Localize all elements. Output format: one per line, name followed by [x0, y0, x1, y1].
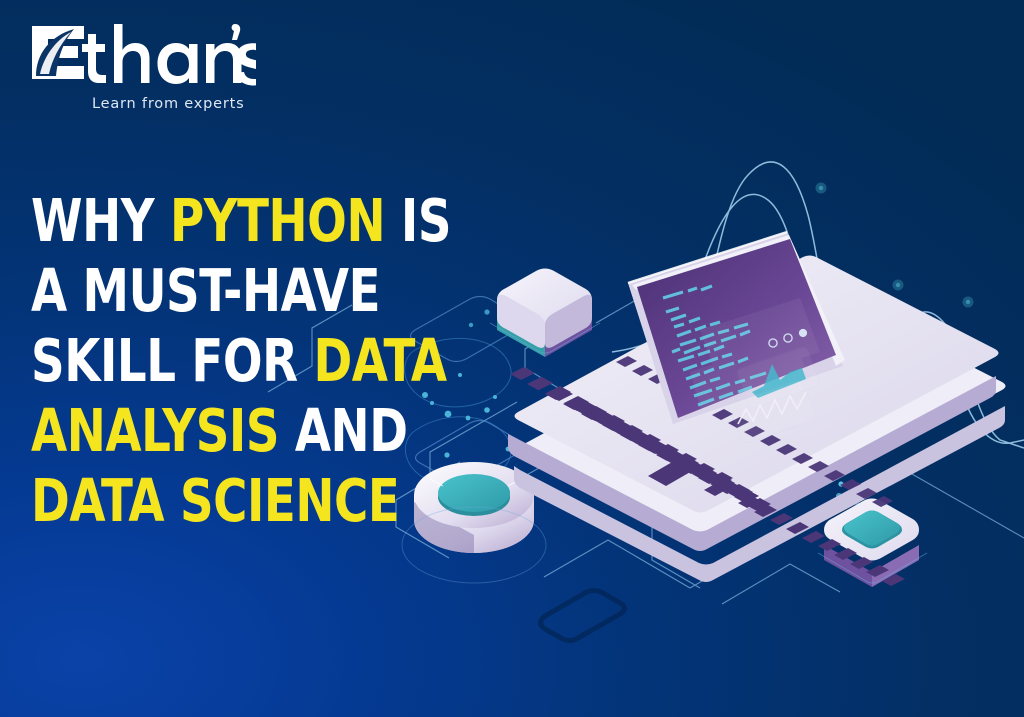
cube-closed	[490, 269, 600, 358]
code-editor-panel	[663, 286, 820, 426]
headline-line-1: WHY PYTHON IS	[31, 186, 401, 256]
keyboard	[510, 356, 905, 586]
brand-logo[interactable]: Learn from experts	[26, 20, 256, 100]
brand-tagline: Learn from experts	[92, 96, 244, 112]
headline-seg: AND	[279, 396, 408, 465]
dark-trace-diamond	[541, 591, 625, 641]
chart-panel-line	[729, 380, 817, 442]
headline-seg: SKILL FOR	[31, 326, 313, 395]
headline-seg-highlight: DATA	[313, 326, 446, 395]
headline-seg: IS	[385, 186, 451, 255]
window-dots	[769, 329, 807, 347]
laptop	[508, 232, 1006, 586]
ethans-leaf-e-logo	[26, 20, 256, 86]
donut-chart	[402, 462, 546, 583]
headline-seg: A MUST-HAVE	[31, 256, 380, 325]
page-title: WHY PYTHON IS A MUST-HAVE SKILL FOR DATA…	[31, 186, 401, 536]
chart-panel-area	[738, 347, 820, 407]
headline-line-5: DATA SCIENCE	[31, 466, 401, 536]
headline-line-2: A MUST-HAVE	[31, 256, 401, 326]
particle-dots	[816, 183, 974, 508]
headline-seg-highlight: DATA SCIENCE	[31, 466, 399, 535]
headline-seg: WHY	[31, 186, 170, 255]
headline-seg-highlight: PYTHON	[170, 186, 385, 255]
headline-line-3: SKILL FOR DATA	[31, 326, 401, 396]
wave-curves	[612, 162, 1024, 448]
cube-open	[818, 481, 927, 587]
headline-seg-highlight: ANALYSIS	[31, 396, 279, 465]
headline-line-4: ANALYSIS AND	[31, 396, 401, 466]
promo-banner: Learn from experts WHY PYTHON IS A MUST-…	[0, 0, 1024, 717]
